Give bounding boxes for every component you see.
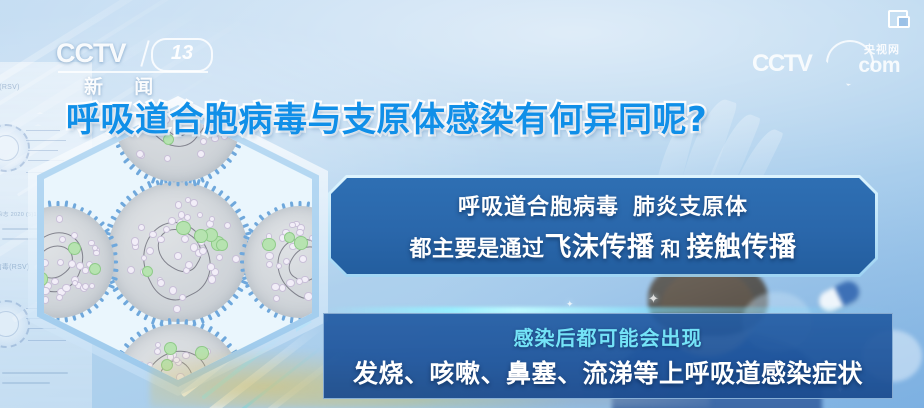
virus-protein-dot: [88, 240, 94, 246]
virus-protein-dot: [211, 239, 218, 246]
virus-protein-dot: [72, 280, 78, 286]
virus-protein-dot: [92, 268, 100, 276]
virus-protein-dot: [273, 295, 280, 302]
virus-particle-field: [44, 112, 312, 380]
virus-protein-dot: [224, 222, 231, 229]
info-box-2-line-1: 感染后都可能会出现: [514, 322, 703, 351]
virus-protein-dot: [56, 215, 63, 222]
triangle-accent: [296, 312, 312, 332]
cctv-dot-com-watermark: CCTV 央视网 com: [752, 42, 902, 82]
virus-protein-dot: [57, 259, 64, 266]
virus-protein-dot: [88, 267, 95, 274]
virus-protein-dot: [296, 229, 304, 237]
virus-protein-dot: [142, 366, 149, 373]
virus-spike-proteins: [108, 182, 248, 322]
channel-network-label: CCTV: [56, 40, 126, 67]
virus-protein-dot: [177, 219, 184, 226]
virus-spike-proteins: [44, 206, 114, 318]
channel-number-label: 13: [153, 40, 211, 66]
virus-protein-dot: [190, 199, 198, 207]
virus-protein-dot: [157, 279, 165, 287]
virus-protein-dot: [185, 197, 191, 203]
virus-protein-dot: [190, 243, 198, 251]
virus-protein-dot: [271, 283, 279, 291]
virus-protein-dot: [76, 262, 84, 270]
virus-protein-dot: [169, 351, 177, 359]
virus-protein-dot: [283, 258, 290, 265]
virus-rna-strand: [284, 240, 312, 288]
virus-protein-dot: [167, 353, 175, 361]
virus-protein-dot: [206, 234, 214, 242]
virus-protein-dot: [279, 284, 286, 291]
virus-protein-dot: [197, 212, 203, 218]
virus-protein-dot: [179, 294, 186, 301]
virus-protein-dot: [44, 287, 50, 295]
virus-protein-dot: [182, 352, 190, 360]
virus-protein-dot: [138, 151, 145, 158]
virus-granule: [202, 367, 217, 380]
virus-protein-dot: [265, 252, 273, 260]
virus-protein-dot: [86, 261, 93, 268]
virus-protein-dot: [80, 284, 88, 292]
virus-protein-dot: [175, 359, 182, 366]
virus-rna-strand: [129, 212, 222, 309]
virus-protein-dot: [206, 220, 214, 228]
virus-protein-dot: [154, 348, 161, 355]
virus-protein-dot: [232, 255, 240, 263]
virus-protein-dot: [174, 252, 182, 260]
virus-protein-dot: [44, 282, 52, 290]
virus-protein-dot: [204, 373, 212, 380]
virus-protein-dot: [147, 362, 153, 368]
virus-rna-strand: [149, 222, 208, 278]
watermark-domain-label: com: [858, 54, 900, 78]
virus-protein-dot: [82, 283, 89, 290]
virus-protein-dot: [178, 211, 185, 218]
virus-protein-dot: [71, 276, 79, 284]
virus-rna-strand: [153, 356, 200, 380]
virus-granule: [294, 236, 307, 249]
virus-protein-dot: [304, 292, 312, 300]
virus-rna-strand: [133, 339, 218, 380]
virus-particle: [108, 182, 248, 322]
virus-granule: [89, 263, 101, 275]
virus-protein-dot: [71, 232, 78, 239]
virus-protein-dot: [138, 224, 145, 231]
virus-spike-proteins: [244, 206, 312, 318]
info-box-transmission: 呼吸道合胞病毒 肺炎支原体 都主要是通过 飞沫传播 和 接触传播: [328, 175, 878, 277]
virus-particle: [114, 324, 242, 380]
channel-number-badge: 13: [151, 38, 213, 72]
virus-protein-dot: [197, 150, 205, 158]
virus-protein-dot: [299, 255, 307, 263]
virus-protein-dot: [62, 284, 70, 292]
transmission-contact: 接触传播: [687, 225, 797, 264]
picture-in-picture-icon[interactable]: [888, 10, 910, 28]
virus-protein-dot: [296, 278, 303, 285]
sparkle-icon: ✦: [648, 292, 659, 305]
info-box-1-line-1: 呼吸道合胞病毒 肺炎支原体: [458, 189, 748, 221]
virus-protein-dot: [44, 265, 45, 273]
virus-protein-dot: [266, 233, 273, 240]
virus-granule: [161, 359, 173, 371]
virus-protein-dot: [297, 224, 305, 232]
virus-protein-dot: [181, 235, 189, 243]
virus-granule: [44, 272, 48, 285]
virus-protein-dot: [289, 222, 295, 228]
poster-caption: 中华儿科杂志 2020 (5)1, 1/2: [0, 210, 49, 218]
virus-protein-dot: [183, 267, 190, 274]
virus-granule: [68, 242, 81, 255]
broadcast-frame: 合胞病毒(RSV) 中华儿科杂志 2020 (5)1, 1/2 呼吸道合胞病毒(…: [0, 0, 924, 408]
headline-title: 呼吸道合胞病毒与支原体感染有何异同呢?: [66, 92, 707, 141]
pip-inner-frame: [897, 16, 910, 28]
virus-protein-dot: [132, 243, 138, 249]
virus-protein-dot: [261, 239, 267, 245]
virus-protein-dot: [89, 283, 96, 290]
virus-envelope: [114, 324, 242, 380]
virus-protein-dot: [93, 247, 100, 254]
info-box-symptoms: 感染后都可能会出现 发烧、咳嗽、鼻塞、流涕等上呼吸道感染症状: [323, 313, 893, 399]
virus-protein-dot: [301, 276, 308, 283]
virus-granule: [142, 266, 154, 278]
virus-protein-dot: [173, 305, 181, 313]
info-box-2-line-2: 发烧、咳嗽、鼻塞、流涕等上呼吸道感染症状: [353, 354, 863, 390]
virus-protein-dot: [276, 263, 282, 269]
virus-protein-dot: [173, 357, 180, 364]
virus-particle: [44, 206, 114, 318]
virus-protein-dot: [168, 217, 176, 225]
virus-protein-dot: [92, 245, 99, 252]
virus-granule: [164, 342, 177, 355]
virus-protein-dot: [194, 231, 201, 238]
virus-protein-dot: [140, 365, 147, 372]
virus-protein-dot: [51, 278, 58, 285]
virus-granule: [195, 346, 209, 360]
virus-granule: [216, 239, 228, 251]
virus-particle: [244, 206, 312, 318]
virus-protein-dot: [157, 236, 164, 243]
virus-protein-dot: [293, 221, 300, 228]
virus-protein-dot: [68, 260, 76, 268]
virus-protein-dot: [286, 279, 294, 287]
virus-protein-dot: [208, 276, 216, 284]
info-box-1-line-2: 都主要是通过 飞沫传播 和 接触传播: [409, 225, 796, 264]
virus-protein-dot: [127, 266, 135, 274]
virus-protein-dot: [184, 214, 191, 221]
virus-protein-dot: [209, 216, 215, 222]
transmission-prefix: 都主要是通过: [409, 231, 544, 263]
virus-protein-dot: [216, 254, 223, 261]
virus-protein-dot: [309, 235, 312, 242]
virus-protein-dot: [169, 286, 177, 294]
virus-spike-proteins: [114, 324, 242, 380]
transmission-droplet: 飞沫传播: [545, 225, 655, 264]
virus-protein-dot: [279, 234, 286, 241]
virus-protein-dot: [155, 342, 162, 349]
virus-protein-dot: [289, 243, 296, 250]
virus-protein-dot: [196, 346, 204, 354]
virus-illustration-hexagon: [28, 96, 328, 396]
virus-protein-dot: [157, 277, 163, 283]
virus-protein-dot: [82, 267, 88, 273]
virus-protein-dot: [146, 247, 154, 255]
virus-protein-dot: [199, 247, 207, 255]
virus-protein-dot: [175, 201, 182, 208]
virus-protein-dot: [141, 255, 147, 261]
virus-granule: [176, 221, 190, 235]
channel-logo: CCTV 13 新 闻: [56, 38, 216, 96]
virus-protein-dot: [44, 296, 49, 304]
virus-protein-dot: [93, 250, 100, 257]
virus-envelope: [244, 206, 312, 318]
virus-protein-dot: [138, 361, 144, 367]
virus-granule: [194, 229, 208, 243]
watermark-brand-label: CCTV: [752, 50, 811, 78]
virus-protein-dot: [266, 261, 273, 268]
virus-protein-dot: [208, 275, 216, 283]
virus-protein-dot: [131, 237, 139, 245]
logo-slash: [140, 40, 149, 67]
virus-protein-dot: [195, 249, 203, 257]
virus-granule: [204, 228, 218, 242]
virus-protein-dot: [140, 268, 148, 276]
virus-protein-dot: [204, 348, 211, 355]
virus-protein-dot: [282, 229, 290, 237]
virus-protein-dot: [198, 239, 205, 246]
virus-protein-dot: [136, 150, 144, 158]
virus-envelope: [44, 206, 114, 318]
virus-protein-dot: [211, 268, 219, 276]
poster-label-2: 呼吸道合胞病毒(RSV): [0, 262, 30, 272]
poster-label-1: 合胞病毒(RSV): [0, 82, 20, 92]
virus-protein-dot: [163, 226, 170, 233]
virus-protein-dot: [164, 155, 171, 162]
virus-protein-dot: [185, 261, 193, 269]
virus-rna-strand: [44, 225, 89, 298]
virus-protein-dot: [207, 263, 214, 270]
virus-protein-dot: [57, 288, 65, 296]
virus-name-mycoplasma: 肺炎支原体: [633, 189, 748, 221]
virus-protein-dot: [56, 294, 63, 301]
transmission-conjunction: 和: [655, 233, 687, 262]
virus-name-rsv: 呼吸道合胞病毒: [458, 189, 619, 221]
virus-envelope: [108, 182, 248, 322]
virus-rna-strand: [265, 228, 312, 308]
virus-granule: [211, 236, 226, 251]
virus-protein-dot: [149, 231, 157, 239]
virus-granule: [262, 238, 275, 251]
virus-protein-dot: [176, 373, 184, 380]
virus-protein-dot: [59, 236, 66, 243]
virus-granule: [284, 232, 295, 243]
virus-rna-strand: [44, 238, 78, 286]
virus-protein-dot: [44, 259, 49, 267]
virus-protein-dot: [75, 282, 81, 288]
